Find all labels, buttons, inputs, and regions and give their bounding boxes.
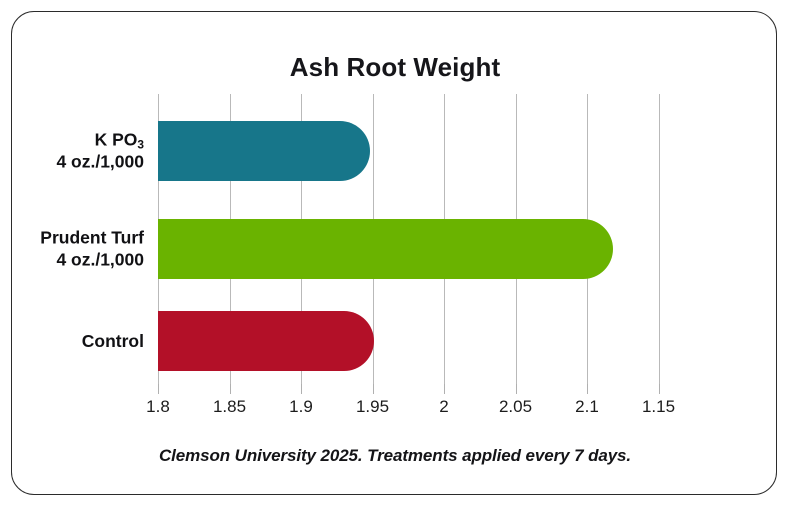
x-tick-label: 1.95 xyxy=(333,397,413,417)
x-tick-mark xyxy=(230,384,231,394)
category-label-line1: Prudent Turf xyxy=(40,228,144,248)
category-label-line1: K PO xyxy=(95,130,138,150)
chart-card: Ash Root Weight K PO34 oz./1,000Prudent … xyxy=(11,11,777,495)
bar xyxy=(158,121,370,181)
bar-row: Control xyxy=(158,311,670,371)
x-tick-mark xyxy=(587,384,588,394)
category-label-line2: 4 oz./1,000 xyxy=(0,151,144,173)
x-tick-label: 2 xyxy=(404,397,484,417)
x-tick-label: 2.05 xyxy=(476,397,556,417)
x-tick-label: 2.1 xyxy=(547,397,627,417)
x-tick-mark xyxy=(659,384,660,394)
category-label: Prudent Turf4 oz./1,000 xyxy=(0,227,144,272)
plot-area: K PO34 oz./1,000Prudent Turf4 oz./1,000C… xyxy=(158,94,670,384)
x-tick-label: 1.9 xyxy=(261,397,341,417)
category-label: Control xyxy=(0,330,144,352)
x-tick-mark xyxy=(301,384,302,394)
x-tick-mark xyxy=(516,384,517,394)
bars-layer: K PO34 oz./1,000Prudent Turf4 oz./1,000C… xyxy=(158,94,670,384)
bar-row: K PO34 oz./1,000 xyxy=(158,121,670,181)
bar xyxy=(158,311,374,371)
x-tick-mark xyxy=(444,384,445,394)
category-label-line1: Control xyxy=(82,331,144,351)
category-label-subscript: 3 xyxy=(137,137,144,151)
chart-footnote: Clemson University 2025. Treatments appl… xyxy=(12,446,778,466)
category-label-line2: 4 oz./1,000 xyxy=(0,249,144,271)
x-tick-label: 1.15 xyxy=(619,397,699,417)
chart-title: Ash Root Weight xyxy=(12,52,778,83)
x-tick-mark xyxy=(373,384,374,394)
x-tick-label: 1.85 xyxy=(190,397,270,417)
x-axis: 1.81.851.91.9522.052.11.15 xyxy=(158,384,670,418)
bar xyxy=(158,219,613,279)
x-tick-mark xyxy=(158,384,159,394)
bar-row: Prudent Turf4 oz./1,000 xyxy=(158,219,670,279)
category-label: K PO34 oz./1,000 xyxy=(0,129,144,174)
x-tick-label: 1.8 xyxy=(118,397,198,417)
